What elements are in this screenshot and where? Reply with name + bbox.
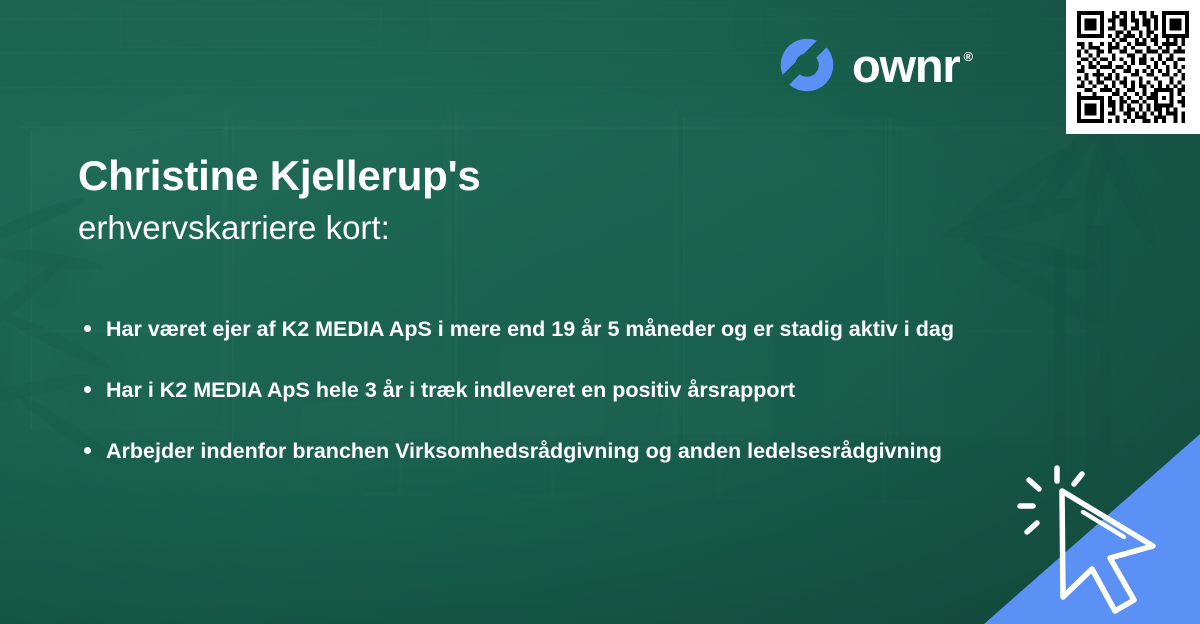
blue-corner-accent — [984, 434, 1200, 624]
business-career-card: ownr ® — [0, 0, 1200, 624]
qr-code-icon — [1077, 11, 1189, 123]
ownr-wordmark: ownr — [852, 42, 959, 89]
list-item: Har i K2 MEDIA ApS hele 3 år i træk indl… — [78, 373, 958, 408]
list-item-text: Arbejder indenfor branchen Virksomhedsrå… — [106, 439, 942, 463]
qr-code[interactable] — [1066, 0, 1200, 134]
ownr-circle-slash-logo-icon — [778, 36, 836, 94]
page-title: Christine Kjellerup's erhvervskarriere k… — [78, 152, 778, 250]
list-item-text: Har i K2 MEDIA ApS hele 3 år i træk indl… — [106, 378, 795, 402]
click-cursor-icon — [984, 434, 1200, 624]
headline-line-1: Christine Kjellerup's — [78, 152, 778, 201]
registered-trademark-icon: ® — [963, 50, 973, 63]
corner-triangle — [984, 434, 1200, 624]
list-item: Har været ejer af K2 MEDIA ApS i mere en… — [78, 312, 958, 347]
bullet-icon — [84, 386, 91, 393]
headline-line-2: erhvervskarriere kort: — [78, 207, 778, 250]
list-item: Arbejder indenfor branchen Virksomhedsrå… — [78, 434, 958, 469]
ownr-logo[interactable]: ownr ® — [778, 36, 973, 94]
list-item-text: Har været ejer af K2 MEDIA ApS i mere en… — [106, 317, 954, 341]
career-facts-list: Har været ejer af K2 MEDIA ApS i mere en… — [78, 312, 958, 468]
bullet-icon — [84, 447, 91, 454]
bullet-icon — [84, 325, 91, 332]
